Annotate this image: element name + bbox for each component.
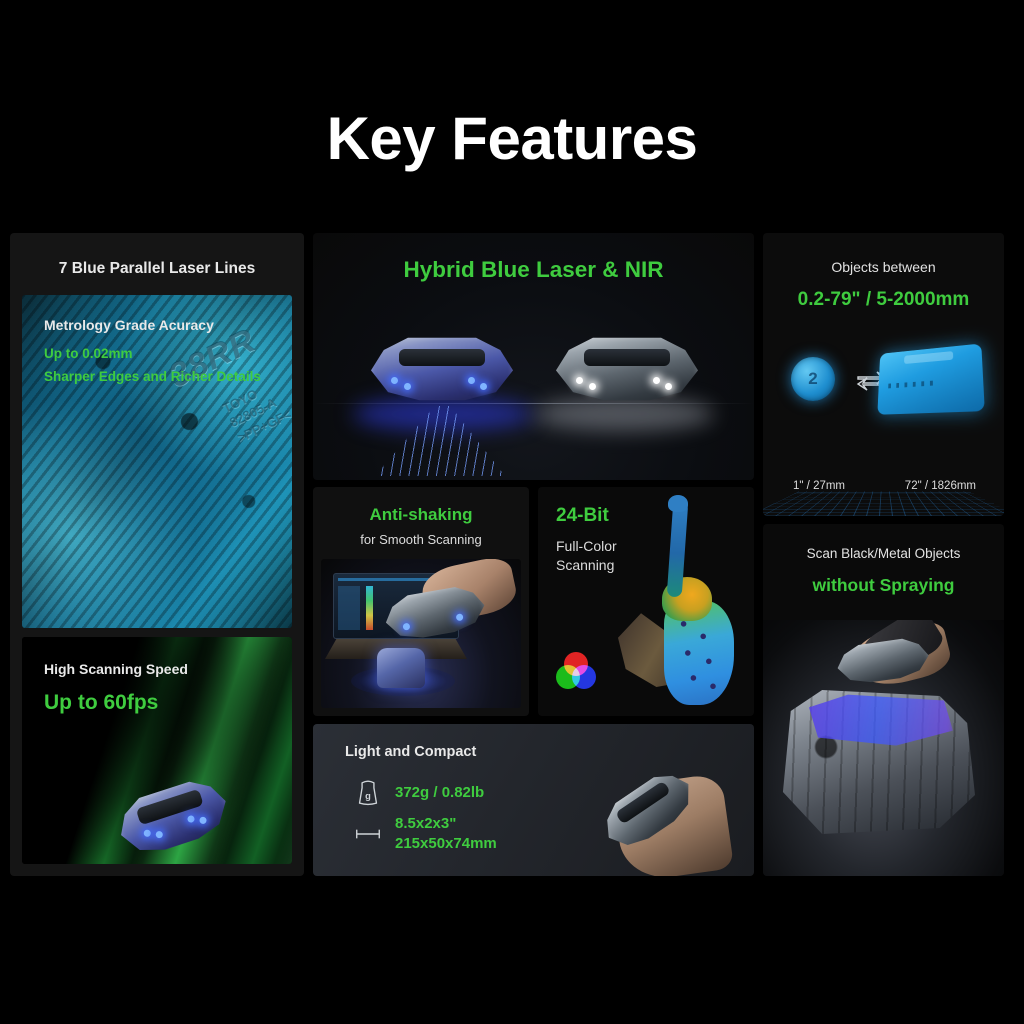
panel-laser-lines: 7 Blue Parallel Laser Lines 38RR TOYO828… [10, 233, 304, 876]
device-led [404, 383, 411, 390]
deviation-color-scale [366, 586, 373, 630]
dimensions-mm: 215x50x74mm [395, 835, 497, 852]
panel-full-color-scanning: 24-Bit Full-Color Scanning [538, 487, 754, 716]
metrology-note: Sharper Edges and Richer Details [44, 369, 261, 384]
device-led [665, 383, 672, 390]
color-label-line1: Full-Color [556, 538, 617, 554]
color-label-line2: Scanning [556, 557, 614, 573]
key-features-infographic: Key Features 7 Blue Parallel Laser Lines… [0, 0, 1024, 1024]
device-visor [399, 349, 484, 367]
weight-tag-icon: g [353, 780, 383, 806]
spraying-value: without Spraying [763, 575, 1004, 596]
small-object-scale-label: 1" / 27mm [793, 480, 845, 492]
nir-scanner [556, 335, 698, 403]
objects-header: Objects between [763, 259, 1004, 275]
wireframe-grid-floor [763, 491, 1004, 516]
device-body [371, 335, 513, 403]
device-visor [584, 349, 669, 367]
compact-header: Light and Compact [345, 744, 476, 760]
size-comparison-stage: 2 1" / 27mm 72" / 1826mm [763, 341, 1004, 516]
spraying-label: Scan Black/Metal Objects [763, 546, 1004, 561]
coin-model: 2 [791, 357, 835, 401]
anti-shaking-subtitle: for Smooth Scanning [313, 532, 529, 547]
hybrid-stage [313, 311, 754, 480]
software-toolbar [338, 578, 437, 581]
panel-light-and-compact: Light and Compact g 372g / 0.82lb [313, 724, 754, 876]
panel-hybrid-laser: Hybrid Blue Laser & NIR [313, 233, 754, 480]
metrology-accuracy-value: Up to 0.02mm [44, 346, 261, 361]
weight-spec-row: g 372g / 0.82lb [353, 780, 484, 806]
peacock-scan-model [612, 493, 750, 711]
features-grid: 7 Blue Parallel Laser Lines 38RR TOYO828… [10, 233, 1004, 876]
device-led [391, 377, 398, 384]
dimensions-spec-row: 8.5x2x3" 215x50x74mm [353, 814, 497, 853]
laser-lines-header: 7 Blue Parallel Laser Lines [10, 260, 304, 278]
device-led [589, 383, 596, 390]
page-title: Key Features [0, 104, 1024, 173]
device-body [556, 335, 698, 403]
color-scanning-label: Full-Color Scanning [556, 537, 617, 575]
speed-text-block: High Scanning Speed Up to 60fps [44, 661, 188, 715]
scanned-part-on-turntable [377, 648, 425, 688]
device-led [576, 377, 583, 384]
weight-value: 372g / 0.82lb [395, 783, 484, 803]
device-body [835, 634, 932, 688]
metrology-text-block: Metrology Grade Acuracy Up to 0.02mm Sha… [44, 317, 261, 384]
scanner-device-over-engine [835, 634, 932, 688]
anti-shaking-title: Anti-shaking [313, 505, 529, 525]
speed-label: High Scanning Speed [44, 661, 188, 677]
dimension-ruler-icon [353, 827, 383, 841]
coin-denomination: 2 [808, 369, 817, 389]
blue-laser-scanner [371, 335, 513, 403]
dimensions-value: 8.5x2x3" 215x50x74mm [395, 814, 497, 853]
panel-anti-shaking: Anti-shaking for Smooth Scanning [313, 487, 529, 716]
rgb-color-icon [556, 652, 596, 690]
hybrid-header: Hybrid Blue Laser & NIR [313, 257, 754, 283]
color-depth-value: 24-Bit [556, 505, 617, 527]
anti-shaking-scene-image [321, 559, 521, 708]
panel-scan-without-spraying: Scan Black/Metal Objects without Sprayin… [763, 524, 1004, 876]
scanned-case-model [877, 343, 984, 414]
peacock-head [668, 495, 688, 512]
rgb-blue-circle [572, 665, 596, 689]
scanning-speed-card: High Scanning Speed Up to 60fps [22, 637, 292, 864]
panel-object-size-range: Objects between 0.2-79" / 5-2000mm 2 1" … [763, 233, 1004, 516]
color-bit-text-block: 24-Bit Full-Color Scanning [556, 505, 617, 575]
device-led [480, 383, 487, 390]
weight-icon-letter: g [365, 791, 371, 801]
speed-value: Up to 60fps [44, 691, 188, 715]
engine-scanning-image [763, 620, 1004, 876]
device-led [653, 377, 660, 384]
large-object-scale-label: 72" / 1826mm [905, 480, 976, 492]
metrology-label: Metrology Grade Acuracy [44, 317, 261, 333]
metrology-card: 38RR TOYO82805-A>PP+GF< Metrology Grade … [22, 295, 292, 628]
objects-range-value: 0.2-79" / 5-2000mm [763, 289, 1004, 311]
software-panel [338, 586, 360, 630]
device-led [468, 377, 475, 384]
dimensions-inches: 8.5x2x3" [395, 815, 456, 832]
